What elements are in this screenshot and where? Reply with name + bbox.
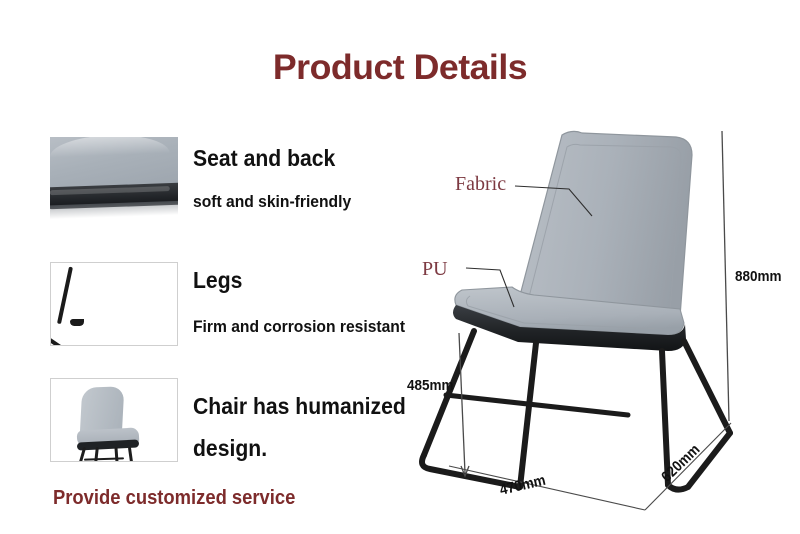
dimension-label-seat-height: 485mm xyxy=(407,377,454,394)
callout-label-fabric: Fabric xyxy=(455,173,506,196)
product-details-image: Product Details Seat and back soft and s… xyxy=(0,0,800,534)
dim-line-485 xyxy=(459,333,465,473)
leader-line-fabric xyxy=(515,186,592,216)
callout-label-pu: PU xyxy=(422,258,448,281)
dimension-label-height: 880mm xyxy=(735,268,782,285)
dim-line-880 xyxy=(722,131,729,421)
leader-line-pu xyxy=(466,268,514,307)
footer-note-customized-service: Provide customized service xyxy=(53,487,295,510)
